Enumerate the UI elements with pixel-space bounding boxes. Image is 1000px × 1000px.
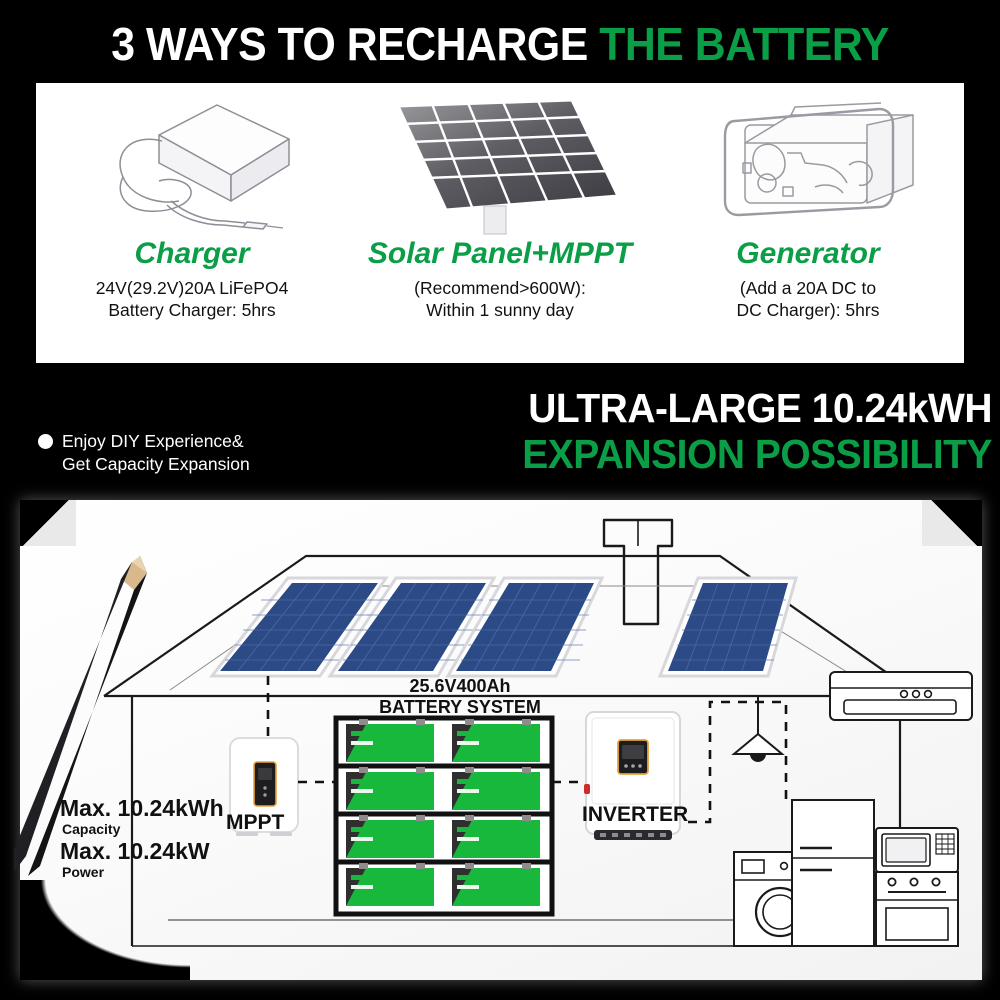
product-infographic: 3 WAYS TO RECHARGE THE BATTERY (0, 0, 1000, 1000)
battery-cell (452, 815, 540, 858)
charge-method-title: Solar Panel+MPPT (368, 237, 632, 271)
headline-recharge: 3 WAYS TO RECHARGE THE BATTERY (35, 18, 965, 70)
capacity-value: Max. 10.24kWh (60, 796, 224, 821)
headline-recharge-white: 3 WAYS TO RECHARGE (111, 18, 588, 70)
charge-method-solar: Solar Panel+MPPT (Recommend>600W): Withi… (346, 85, 654, 361)
battery-cell (346, 863, 434, 906)
charge-methods-card: Charger 24V(29.2V)20A LiFePO4 Battery Ch… (36, 83, 964, 363)
charge-method-title: Generator (736, 237, 879, 271)
battery-cell (452, 767, 540, 810)
charge-method-generator: Generator (Add a 20A DC to DC Charger): … (654, 85, 962, 361)
headline-recharge-green: THE BATTERY (599, 18, 889, 70)
battery-system-label: 25.6V400Ah BATTERY SYSTEM (350, 676, 570, 718)
power-value: Max. 10.24kW (60, 839, 210, 864)
solar-panel-icon (346, 85, 654, 235)
charge-methods-list: Charger 24V(29.2V)20A LiFePO4 Battery Ch… (38, 85, 962, 361)
headline-expansion: ULTRA-LARGE 10.24kWH EXPANSION POSSIBILI… (352, 385, 992, 477)
inverter-label: INVERTER (582, 803, 688, 827)
charge-method-charger: Charger 24V(29.2V)20A LiFePO4 Battery Ch… (38, 85, 346, 361)
charge-method-description: (Recommend>600W): Within 1 sunny day (414, 277, 586, 321)
battery-cell (346, 815, 434, 858)
system-diagram-paper: Max. 10.24kWh Capacity Max. 10.24kW Powe… (20, 500, 982, 980)
ac-power-adapter-icon (38, 85, 346, 235)
battery-cell (452, 719, 540, 762)
capacity-caption: Capacity (62, 821, 120, 837)
headline-expansion-line1: ULTRA-LARGE 10.24kWH (384, 385, 992, 431)
microwave-icon (876, 828, 958, 872)
power-caption: Power (62, 864, 104, 880)
battery-cell (452, 863, 540, 906)
battery-rack (336, 718, 552, 914)
pendant-lamp-icon (734, 696, 782, 761)
roof-solar-panels (212, 578, 796, 676)
gas-generator-icon (654, 85, 962, 235)
diy-bullet: Enjoy DIY Experience& Get Capacity Expan… (38, 430, 338, 476)
bullet-dot-icon (38, 434, 53, 449)
refrigerator-icon (792, 800, 874, 946)
mppt-label: MPPT (226, 811, 284, 835)
headline-expansion-line2: EXPANSION POSSIBILITY (384, 431, 992, 477)
battery-cell (346, 719, 434, 762)
air-conditioner-icon (830, 672, 972, 720)
charge-method-description: (Add a 20A DC to DC Charger): 5hrs (737, 277, 880, 321)
oven-stove-icon (876, 872, 958, 946)
charge-method-description: 24V(29.2V)20A LiFePO4 Battery Charger: 5… (96, 277, 289, 321)
diy-bullet-text: Enjoy DIY Experience& Get Capacity Expan… (62, 430, 250, 476)
paper-corner-curl-bottom-left (20, 880, 190, 980)
battery-cell (346, 767, 434, 810)
charge-method-title: Charger (134, 237, 249, 271)
